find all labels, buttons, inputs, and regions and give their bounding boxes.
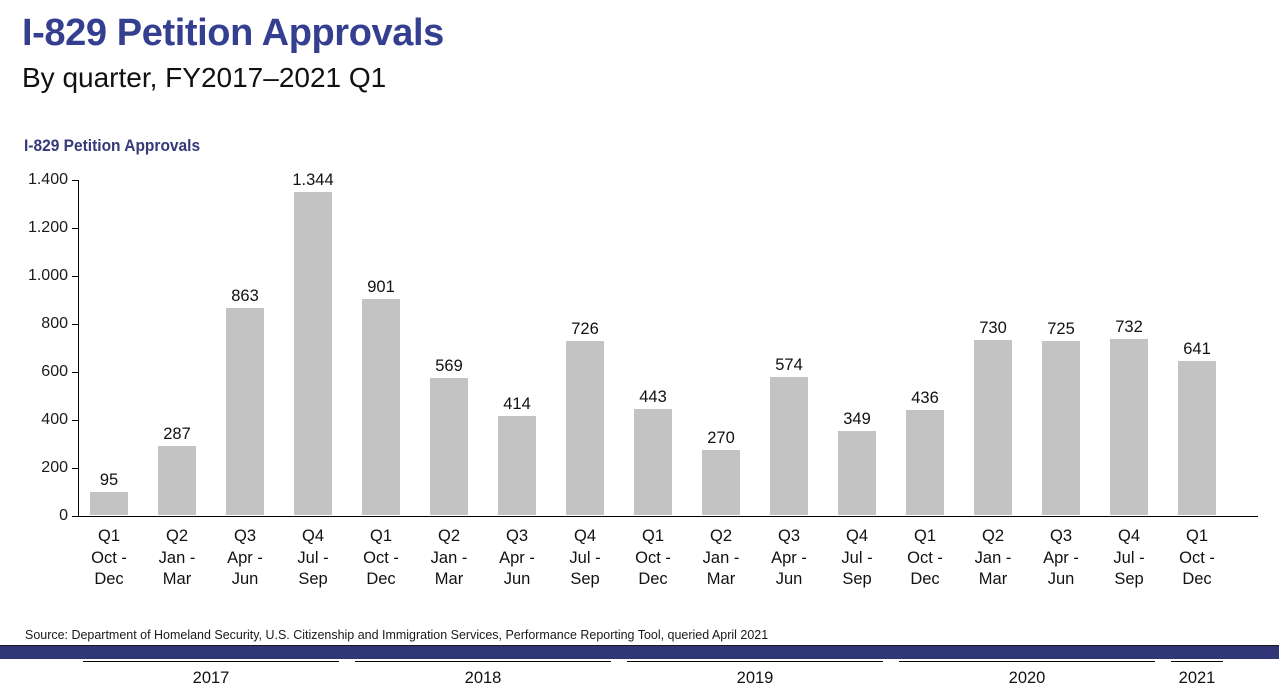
x-axis-category-label: Q1Oct -Dec — [346, 526, 416, 591]
bar — [974, 340, 1012, 515]
x-axis-label-line: Jan - — [142, 548, 212, 570]
bar — [1110, 339, 1148, 515]
x-axis-label-line: Oct - — [74, 548, 144, 570]
year-group-label: 2019 — [627, 669, 883, 688]
x-axis-label-line: Q3 — [754, 526, 824, 548]
x-axis-label-line: Q1 — [618, 526, 688, 548]
x-axis-label-line: Sep — [550, 569, 620, 591]
x-axis-label-line: Q2 — [686, 526, 756, 548]
y-axis-tick-label: 0 — [59, 508, 68, 524]
y-axis-tick-label: 200 — [41, 460, 68, 476]
y-axis-tick-label: 1.400 — [28, 172, 68, 188]
x-axis-label-line: Apr - — [1026, 548, 1096, 570]
bar-value-label: 863 — [210, 288, 280, 305]
x-axis-category-label: Q2Jan -Mar — [686, 526, 756, 591]
y-axis-tick — [72, 228, 78, 229]
x-axis-category-label: Q3Apr -Jun — [210, 526, 280, 591]
bar — [906, 410, 944, 515]
x-axis-label-line: Q4 — [550, 526, 620, 548]
bar — [1042, 341, 1080, 515]
x-axis-label-line: Q1 — [1162, 526, 1232, 548]
x-axis-label-line: Dec — [74, 569, 144, 591]
x-axis-label-line: Oct - — [890, 548, 960, 570]
x-axis-category-label: Q1Oct -Dec — [74, 526, 144, 591]
x-axis-line — [78, 516, 1258, 517]
x-axis-label-line: Dec — [346, 569, 416, 591]
year-group-rule — [83, 661, 339, 662]
x-axis-label-line: Q4 — [822, 526, 892, 548]
x-axis-label-line: Q3 — [210, 526, 280, 548]
x-axis-label-line: Jan - — [686, 548, 756, 570]
y-axis-tick — [72, 420, 78, 421]
x-axis-label-line: Apr - — [210, 548, 280, 570]
bar — [838, 431, 876, 515]
y-axis-tick-label: 400 — [41, 412, 68, 428]
x-axis-label-line: Jul - — [822, 548, 892, 570]
x-axis-category-label: Q4Jul -Sep — [278, 526, 348, 591]
x-axis-label-line: Jan - — [958, 548, 1028, 570]
x-axis-label-line: Q4 — [1094, 526, 1164, 548]
y-axis-tick — [72, 468, 78, 469]
x-axis-label-line: Dec — [890, 569, 960, 591]
bar — [430, 378, 468, 515]
x-axis-label-line: Oct - — [1162, 548, 1232, 570]
y-axis-tick-label: 600 — [41, 364, 68, 380]
bar — [702, 450, 740, 515]
year-group-rule — [1171, 661, 1223, 662]
x-axis-label-line: Jun — [1026, 569, 1096, 591]
y-axis-tick-label: 1.000 — [28, 268, 68, 284]
x-axis-category-label: Q3Apr -Jun — [1026, 526, 1096, 591]
source-note: Source: Department of Homeland Security,… — [25, 627, 768, 642]
x-axis-category-label: Q4Jul -Sep — [1094, 526, 1164, 591]
x-axis-category-label: Q1Oct -Dec — [618, 526, 688, 591]
y-axis-tick-label: 1.200 — [28, 220, 68, 236]
x-axis-label-line: Q2 — [414, 526, 484, 548]
bar — [226, 308, 264, 515]
bar-value-label: 270 — [686, 430, 756, 447]
bar-value-label: 574 — [754, 357, 824, 374]
x-axis-label-line: Jun — [482, 569, 552, 591]
x-axis-category-label: Q4Jul -Sep — [550, 526, 620, 591]
year-group-rule — [355, 661, 611, 662]
x-axis-category-label: Q3Apr -Jun — [754, 526, 824, 591]
y-axis-tick — [72, 516, 78, 517]
bar-chart: I-829 Petition Approvals 1.4001.2001.000… — [0, 110, 1279, 630]
bar — [634, 409, 672, 515]
x-axis-label-line: Jan - — [414, 548, 484, 570]
bar — [1178, 361, 1216, 515]
y-axis-tick — [72, 324, 78, 325]
year-group-rule — [899, 661, 1155, 662]
x-axis-label-line: Mar — [686, 569, 756, 591]
bar-value-label: 95 — [74, 472, 144, 489]
bar — [362, 299, 400, 515]
bar — [770, 377, 808, 515]
x-axis-category-label: Q2Jan -Mar — [142, 526, 212, 591]
page-subtitle: By quarter, FY2017–2021 Q1 — [22, 62, 386, 94]
x-axis-label-line: Dec — [1162, 569, 1232, 591]
bar-value-label: 443 — [618, 389, 688, 406]
bar-value-label: 414 — [482, 396, 552, 413]
x-axis-label-line: Q3 — [482, 526, 552, 548]
plot-area: 952878631.344901569414726443270574349436… — [78, 180, 1258, 516]
page-title: I-829 Petition Approvals — [22, 12, 444, 55]
bar — [158, 446, 196, 515]
x-axis-label-line: Sep — [278, 569, 348, 591]
x-axis-label-line: Oct - — [618, 548, 688, 570]
x-axis-label-line: Sep — [1094, 569, 1164, 591]
year-group-label: 2021 — [1171, 669, 1223, 688]
x-axis-category-label: Q1Oct -Dec — [1162, 526, 1232, 591]
x-axis-label-line: Jul - — [1094, 548, 1164, 570]
x-axis-label-line: Dec — [618, 569, 688, 591]
x-axis-category-label: Q2Jan -Mar — [414, 526, 484, 591]
x-axis-label-line: Mar — [958, 569, 1028, 591]
bar-value-label: 641 — [1162, 341, 1232, 358]
x-axis-label-line: Jun — [210, 569, 280, 591]
bar-value-label: 1.344 — [278, 172, 348, 189]
x-axis-label-line: Q1 — [890, 526, 960, 548]
bar-value-label: 436 — [890, 390, 960, 407]
footer-band — [0, 646, 1279, 659]
x-axis-category-label: Q3Apr -Jun — [482, 526, 552, 591]
year-group-label: 2020 — [899, 669, 1155, 688]
bar-value-label: 732 — [1094, 319, 1164, 336]
x-axis-label-line: Q2 — [142, 526, 212, 548]
x-axis-label-line: Mar — [414, 569, 484, 591]
x-axis-label-line: Q1 — [346, 526, 416, 548]
x-axis-label-line: Apr - — [482, 548, 552, 570]
x-axis-category-label: Q4Jul -Sep — [822, 526, 892, 591]
x-axis-label-line: Q2 — [958, 526, 1028, 548]
y-axis-tick — [72, 372, 78, 373]
bar — [294, 192, 332, 515]
x-axis-label-line: Jul - — [278, 548, 348, 570]
chart-axis-title: I-829 Petition Approvals — [24, 137, 200, 156]
x-axis-label-line: Q4 — [278, 526, 348, 548]
bar — [498, 416, 536, 515]
x-axis-label-line: Jun — [754, 569, 824, 591]
y-axis-tick — [72, 276, 78, 277]
x-axis-label-line: Q1 — [74, 526, 144, 548]
x-axis-label-line: Apr - — [754, 548, 824, 570]
x-axis-label-line: Mar — [142, 569, 212, 591]
bar-value-label: 725 — [1026, 321, 1096, 338]
x-axis-label-line: Sep — [822, 569, 892, 591]
bar — [90, 492, 128, 515]
bar-value-label: 569 — [414, 358, 484, 375]
y-axis-line — [78, 180, 79, 517]
bar-value-label: 349 — [822, 411, 892, 428]
x-axis-label-line: Oct - — [346, 548, 416, 570]
x-axis-label-line: Q3 — [1026, 526, 1096, 548]
x-axis-category-label: Q1Oct -Dec — [890, 526, 960, 591]
y-axis-tick-labels: 1.4001.2001.0008006004002000 — [0, 180, 68, 517]
year-group-label: 2018 — [355, 669, 611, 688]
year-group-label: 2017 — [83, 669, 339, 688]
x-axis-category-label: Q2Jan -Mar — [958, 526, 1028, 591]
bar-value-label: 726 — [550, 321, 620, 338]
y-axis-tick — [72, 180, 78, 181]
y-axis-tick-label: 800 — [41, 316, 68, 332]
x-axis-label-line: Jul - — [550, 548, 620, 570]
bar-value-label: 730 — [958, 320, 1028, 337]
bar — [566, 341, 604, 515]
bar-value-label: 287 — [142, 426, 212, 443]
year-group-rule — [627, 661, 883, 662]
bar-value-label: 901 — [346, 279, 416, 296]
